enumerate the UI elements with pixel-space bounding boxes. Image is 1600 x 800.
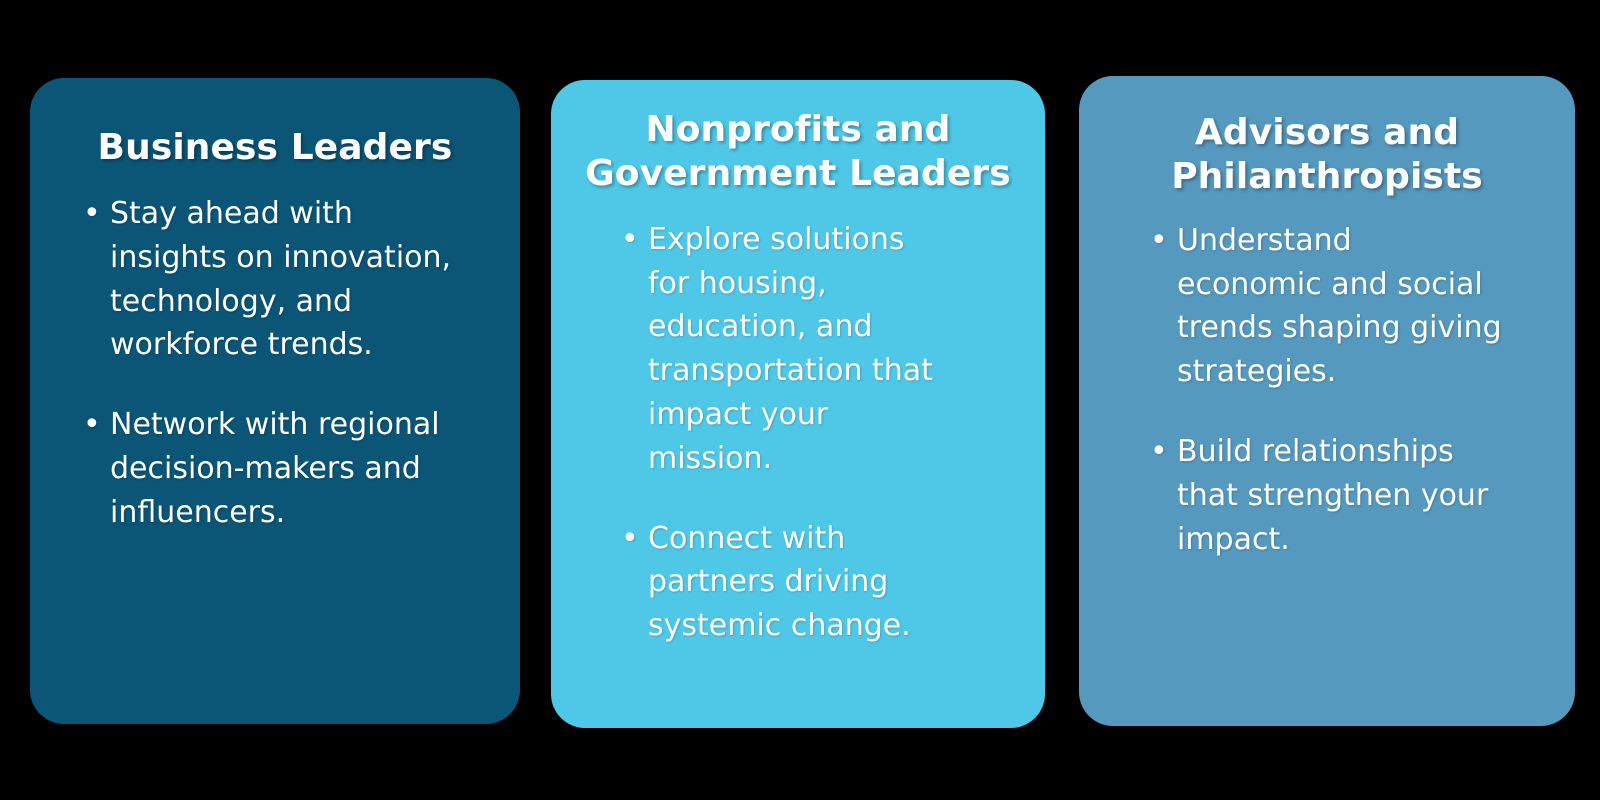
- list-item-text: Stay ahead with insights on innovation, …: [110, 196, 451, 362]
- card-bullet-list: • Stay ahead with insights on innovation…: [30, 192, 520, 535]
- audience-card-nonprofits-and-government-leaders: Nonprofits and Government Leaders • Expl…: [551, 80, 1045, 728]
- list-item-text: Explore solutions for housing, education…: [648, 222, 933, 476]
- card-title: Business Leaders: [30, 78, 520, 170]
- bullet-point-icon: •: [83, 403, 110, 447]
- bullet-point-icon: •: [621, 218, 648, 262]
- bullet-point-icon: •: [83, 192, 110, 236]
- bullet-point-icon: •: [1150, 219, 1177, 263]
- list-item: • Network with regional decision-makers …: [110, 403, 472, 534]
- card-title: Advisors and Philanthropists: [1079, 76, 1575, 199]
- list-item-text: Build relationships that strengthen your…: [1177, 434, 1488, 557]
- card-bullet-list: • Explore solutions for housing, educati…: [551, 218, 1045, 648]
- list-item: • Build relationships that strengthen yo…: [1177, 430, 1505, 561]
- card-title: Nonprofits and Government Leaders: [551, 80, 1045, 196]
- list-item: • Understand economic and social trends …: [1177, 219, 1505, 394]
- audience-card-business-leaders: Business Leaders • Stay ahead with insig…: [30, 78, 520, 724]
- audience-card-advisors-and-philanthropists: Advisors and Philanthropists • Understan…: [1079, 76, 1575, 726]
- list-item-text: Understand economic and social trends sh…: [1177, 223, 1502, 389]
- list-item-text: Connect with partners driving systemic c…: [648, 521, 911, 644]
- bullet-point-icon: •: [1150, 430, 1177, 474]
- list-item: • Explore solutions for housing, educati…: [648, 218, 955, 481]
- list-item: • Stay ahead with insights on innovation…: [110, 192, 472, 367]
- list-item: • Connect with partners driving systemic…: [648, 517, 955, 648]
- slide-canvas: Business Leaders • Stay ahead with insig…: [0, 0, 1600, 800]
- card-bullet-list: • Understand economic and social trends …: [1079, 219, 1575, 562]
- bullet-point-icon: •: [621, 517, 648, 561]
- list-item-text: Network with regional decision-makers an…: [110, 407, 440, 530]
